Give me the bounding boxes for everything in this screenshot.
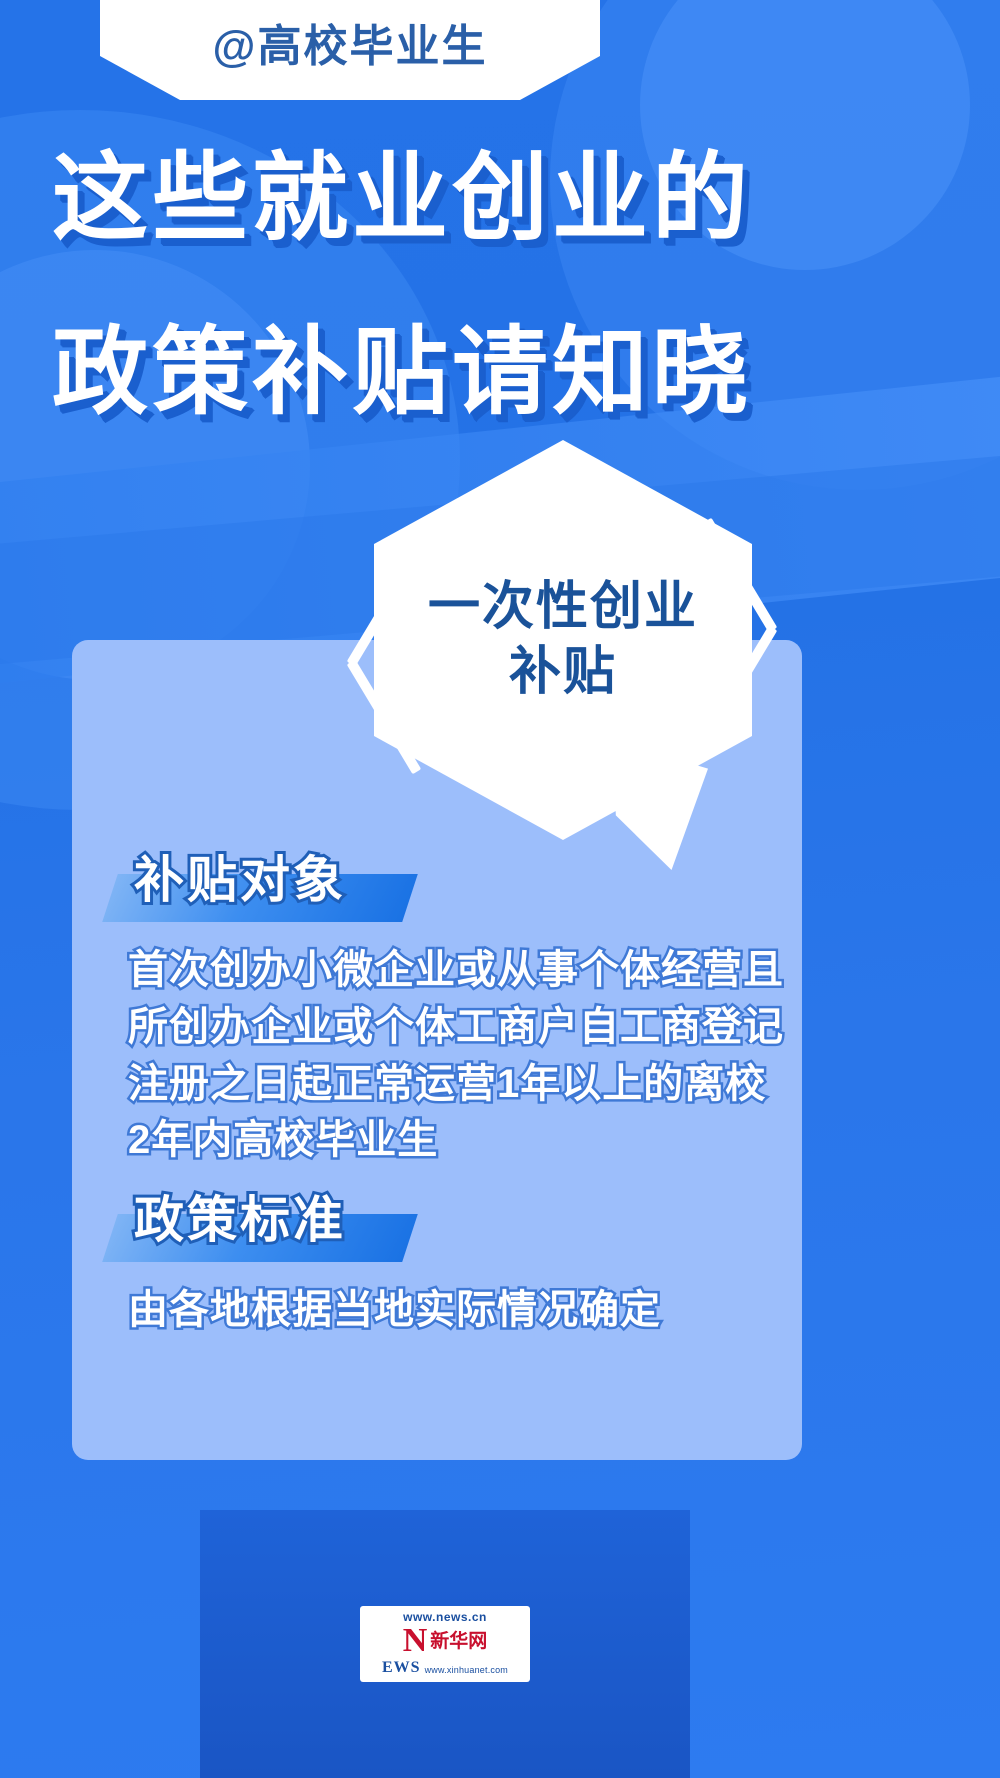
body-line: 所创办企业或个体工商户自工商登记: [128, 999, 772, 1056]
top-banner-label: @高校毕业生: [213, 25, 488, 75]
body-line: 注册之日起正常运营1年以上的离校: [128, 1056, 772, 1113]
top-banner: @高校毕业生: [100, 0, 600, 100]
headline: 这些就业创业的 政策补贴请知晓: [0, 150, 1000, 422]
logo-chinese-name: 新华网: [430, 1632, 487, 1651]
logo-wordmark: N 新华网: [367, 1625, 523, 1657]
section-subsidy-target: 补贴对象 首次创办小微企业或从事个体经营且 所创办企业或个体工商户自工商登记 注…: [72, 848, 802, 1169]
xinhua-logo: www.news.cn N 新华网 EWS www.xinhuanet.com: [360, 1606, 530, 1681]
badge-title-line-2: 补贴: [428, 640, 698, 705]
body-line: 2年内高校毕业生: [128, 1112, 772, 1169]
section-heading-label: 政策标准: [134, 1188, 346, 1252]
logo-letter-n: N: [403, 1625, 428, 1657]
headline-line-1: 这些就业创业的: [0, 150, 1000, 248]
badge-title: 一次性创业 补贴: [428, 575, 698, 705]
logo-url-bottom: www.xinhuanet.com: [425, 1666, 508, 1676]
headline-line-2: 政策补贴请知晓: [0, 324, 1000, 422]
body-line: 首次创办小微企业或从事个体经营且: [128, 942, 772, 999]
logo-url-top: www.news.cn: [367, 1611, 523, 1624]
footer-bar: www.news.cn N 新华网 EWS www.xinhuanet.com: [200, 1510, 690, 1778]
section-heading-label: 补贴对象: [134, 848, 346, 912]
badge-title-line-1: 一次性创业: [428, 575, 698, 640]
logo-letters-ews: EWS: [382, 1660, 421, 1676]
hexagon-badge: 一次性创业 补贴: [328, 440, 798, 860]
section-body: 由各地根据当地实际情况确定: [128, 1282, 802, 1339]
section-heading-banner: 政策标准: [110, 1188, 802, 1266]
poster-canvas: @高校毕业生 这些就业创业的 政策补贴请知晓 补贴对象 首次创办小微企业或从事个…: [0, 0, 1000, 1778]
section-policy-standard: 政策标准 由各地根据当地实际情况确定: [72, 1188, 802, 1339]
body-line: 由各地根据当地实际情况确定: [128, 1282, 772, 1339]
section-body: 首次创办小微企业或从事个体经营且 所创办企业或个体工商户自工商登记 注册之日起正…: [128, 942, 802, 1169]
logo-lower-row: EWS www.xinhuanet.com: [367, 1660, 523, 1676]
